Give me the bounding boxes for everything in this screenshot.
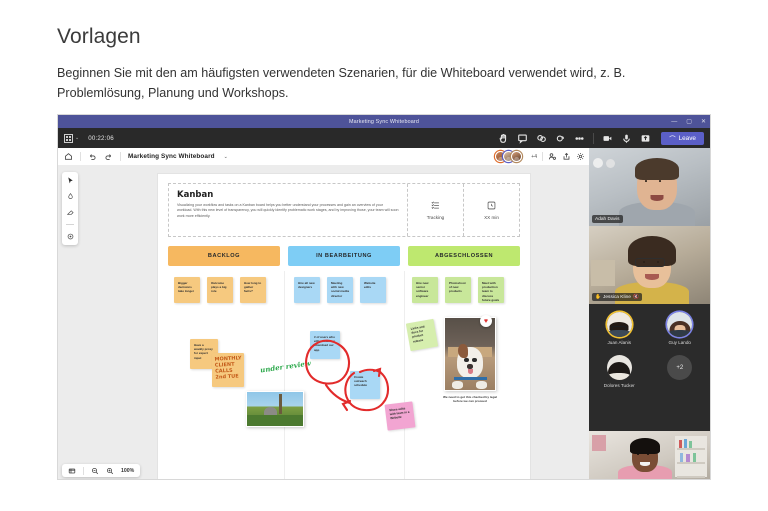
sticky-note[interactable]: Meeting with new social media director [327, 277, 353, 303]
whiteboard-toolbar: Marketing Sync Whiteboard ⌄ +4 [58, 148, 591, 166]
page-title: Vorlagen [57, 25, 141, 49]
sticky-note[interactable]: Hire new senior software engineer [412, 277, 438, 303]
participant-name-label: Dolores Tucker [604, 383, 635, 388]
participant-grid-row: Dolores Tucker +2 [589, 355, 710, 388]
green-ink-annotation: under review [260, 359, 312, 374]
raise-hand-icon[interactable] [498, 133, 509, 144]
sticky-note[interactable]: Hire all new designers [294, 277, 320, 303]
meeting-toolbar: ⌄ 00:22:06 [58, 128, 710, 148]
template-header: Kanban Visualizing your workflow and tas… [168, 183, 520, 237]
minimize-icon[interactable]: — [671, 119, 677, 125]
participant-grid: Juan Alanis Guy Lando [589, 304, 710, 431]
teams-meeting-window: Marketing Sync Whiteboard — ▢ ✕ ⌄ 00:22:… [57, 114, 711, 480]
participant-name: ✋ Jessica Kline 🔇 [592, 293, 642, 301]
template-description: Visualizing your workflow and tasks on a… [177, 203, 399, 219]
template-meta-duration: XX min [463, 184, 519, 236]
whiteboard-status-bar: 100% [62, 464, 140, 477]
participant-name-label: Juan Alanis [608, 340, 632, 345]
kanban-board[interactable]: Kanban Visualizing your workflow and tas… [158, 174, 530, 480]
page-root: Vorlagen Beginnen Sie mit den am häufigs… [0, 0, 768, 511]
hangup-icon: ⌒ [669, 134, 675, 143]
sticky-note[interactable]: Create outreach schedule [350, 371, 380, 399]
participant-tile-bottom[interactable] [589, 431, 710, 480]
column-header-backlog[interactable]: BACKLOG [168, 246, 280, 266]
clock-icon [486, 200, 497, 211]
kanban-column-headers: BACKLOG IN BEARBEITUNG ABGESCHLOSSEN [168, 246, 520, 266]
settings-tool-icon[interactable] [66, 232, 75, 241]
whiteboard-app: Marketing Sync Whiteboard ⌄ +4 [58, 148, 591, 480]
handwritten-sticky-note[interactable]: MONTHLY CLIENT CALLS 2nd TUE [212, 353, 244, 387]
bulldog-photo[interactable] [444, 317, 496, 391]
participant-cell-juan-alanis[interactable]: Juan Alanis [596, 312, 642, 345]
video-feed [589, 431, 710, 480]
column-header-in-progress[interactable]: IN BEARBEITUNG [288, 246, 400, 266]
home-icon[interactable] [64, 152, 73, 161]
template-title: Kanban [177, 190, 399, 200]
sticky-note[interactable]: Website edits [360, 277, 386, 303]
toolbar-divider [593, 133, 594, 144]
toolbar-divider [120, 152, 121, 161]
sticky-note[interactable]: Outcome plays a big role [207, 277, 233, 303]
board-name-chevron-down-icon[interactable]: ⌄ [224, 154, 228, 160]
participant-cell-guy-lando[interactable]: Guy Lando [657, 312, 703, 345]
avatar [607, 312, 632, 337]
sticky-note[interactable]: How long to gather facts? [240, 277, 266, 303]
handwritten-text: MONTHLY CLIENT CALLS 2nd TUE [214, 355, 241, 380]
maximize-icon[interactable]: ▢ [686, 119, 692, 125]
status-divider [83, 467, 84, 475]
collaborator-avatars[interactable] [495, 151, 522, 162]
window-title: Marketing Sync Whiteboard [349, 119, 419, 125]
zoom-out-icon[interactable] [91, 467, 99, 475]
chevron-down-icon[interactable]: ⌄ [75, 135, 79, 141]
tracking-icon [430, 200, 441, 211]
collaborate-icon[interactable] [548, 152, 557, 161]
board-name[interactable]: Marketing Sync Whiteboard [128, 153, 215, 160]
sticky-note[interactable]: Share edits with team in a Website [385, 401, 416, 430]
template-meta-tracking: Tracking [407, 184, 463, 236]
fit-to-screen-icon[interactable] [68, 467, 76, 475]
avatar [667, 312, 692, 337]
overflow-count[interactable]: +2 [667, 355, 692, 380]
participant-cell-dolores-tucker[interactable]: Dolores Tucker [596, 355, 642, 388]
kanban-notes-area[interactable]: Bigger decisions take longer Outcome pla… [168, 271, 520, 480]
leave-button[interactable]: ⌒ Leave [661, 132, 704, 145]
close-icon[interactable]: ✕ [701, 119, 706, 125]
duration-label: XX min [484, 215, 499, 220]
participant-rail: Adah Davis ✋ Jessica Kline [589, 148, 710, 480]
raised-hand-icon: ✋ [595, 295, 601, 300]
extra-participants-count[interactable]: +4 [531, 154, 537, 160]
photo-caption: We need to get this checked by legal bef… [440, 395, 500, 404]
template-text: Kanban Visualizing your workflow and tas… [169, 184, 407, 236]
zoom-level[interactable]: 100% [121, 468, 134, 474]
sticky-note[interactable]: Bigger decisions take longer [174, 277, 200, 303]
react-heart-icon[interactable] [555, 133, 566, 144]
toolbar-divider [542, 152, 543, 161]
more-options-icon[interactable] [574, 133, 585, 144]
elephant-photo[interactable] [246, 391, 304, 427]
zoom-in-icon[interactable] [106, 467, 114, 475]
reactions-icon[interactable] [536, 133, 547, 144]
participant-name-label: Jessica Kline [603, 295, 631, 300]
participant-name: Adah Davis [592, 215, 623, 223]
camera-icon[interactable] [602, 133, 613, 144]
window-titlebar: Marketing Sync Whiteboard — ▢ ✕ [58, 115, 710, 128]
whiteboard-toolbar-right: +4 [495, 151, 585, 162]
window-controls[interactable]: — ▢ ✕ [671, 115, 706, 128]
leave-button-label: Leave [679, 135, 696, 142]
palette-divider [66, 224, 74, 225]
sticky-note[interactable]: # of users who either share or download … [310, 331, 340, 359]
column-header-done[interactable]: ABGESCHLOSSEN [408, 246, 520, 266]
meeting-actions: ⌒ Leave [498, 132, 704, 145]
participant-tile-adah-davis[interactable]: Adah Davis [589, 148, 710, 226]
eraser-tool-icon[interactable] [66, 208, 75, 217]
sticky-note[interactable]: Links and docs for product release [406, 319, 438, 351]
heart-reaction-badge[interactable]: ♥ [480, 315, 492, 327]
participant-tile-jessica-kline[interactable]: ✋ Jessica Kline 🔇 [589, 226, 710, 304]
participant-grid-row: Juan Alanis Guy Lando [589, 312, 710, 345]
whiteboard-canvas[interactable]: Kanban Visualizing your workflow and tas… [58, 166, 591, 480]
share-screen-icon[interactable] [640, 133, 651, 144]
ink-tool-icon[interactable] [66, 192, 75, 201]
toolbar-divider [80, 152, 81, 161]
muted-icon: 🔇 [633, 295, 639, 300]
sticky-note[interactable]: Meet with production team to discuss fut… [478, 277, 504, 303]
gear-icon[interactable] [576, 152, 585, 161]
microphone-icon[interactable] [621, 133, 632, 144]
sticky-note[interactable]: Photoshoot of new products [445, 277, 471, 303]
avatar[interactable] [511, 151, 522, 162]
participant-cell-overflow[interactable]: +2 [657, 355, 703, 380]
background-shelf [675, 436, 707, 477]
meeting-timer: 00:22:06 [88, 135, 114, 142]
participant-name-label: Adah Davis [595, 217, 620, 222]
tool-palette [62, 172, 78, 245]
share-board-icon[interactable] [562, 152, 571, 161]
chat-icon[interactable] [517, 133, 528, 144]
column-divider [284, 271, 285, 480]
undo-icon[interactable] [88, 152, 97, 161]
select-tool-icon[interactable] [66, 176, 75, 185]
participant-name-label: Guy Lando [669, 340, 691, 345]
page-paragraph: Beginnen Sie mit den am häufigsten verwe… [57, 63, 677, 103]
tracking-label: Tracking [427, 215, 444, 220]
redo-icon[interactable] [104, 152, 113, 161]
grid-view-icon[interactable] [64, 134, 73, 143]
avatar [607, 355, 632, 380]
column-divider [404, 271, 405, 480]
